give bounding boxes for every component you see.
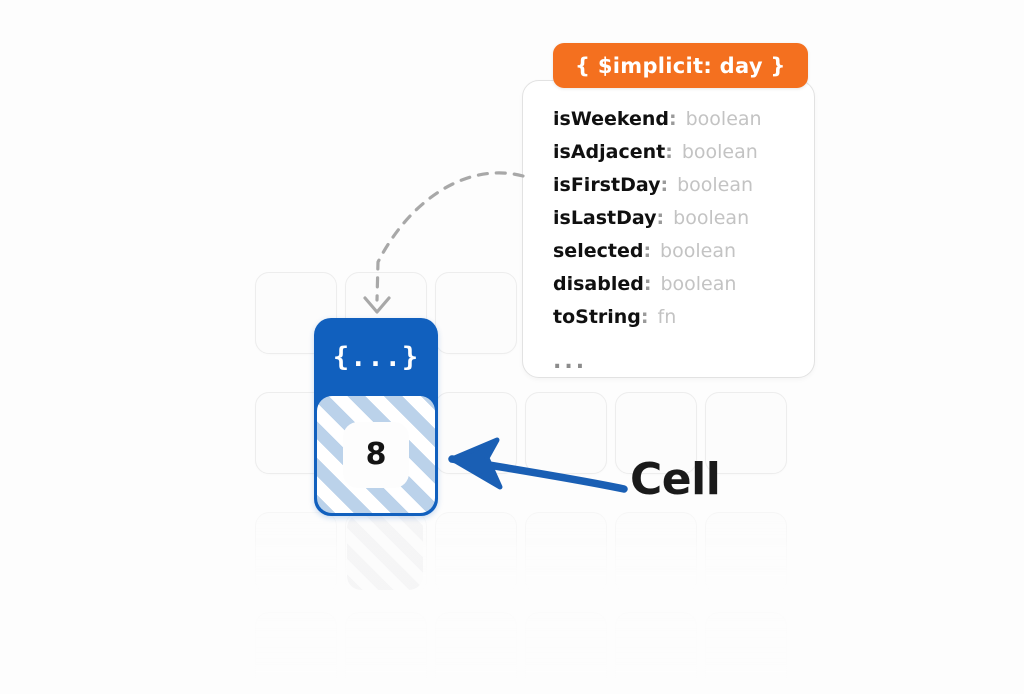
property-separator: : — [641, 306, 649, 328]
implicit-context-badge: { $implicit: day } — [553, 43, 808, 88]
property-list-ellipsis: ... — [553, 349, 814, 374]
grid-cell — [705, 512, 787, 594]
grid-cell — [615, 512, 697, 594]
arrows-layer — [0, 0, 1024, 691]
property-row: isAdjacent:boolean — [553, 141, 814, 174]
grid-cell — [705, 612, 787, 694]
property-row: selected:boolean — [553, 240, 814, 273]
property-key: isFirstDay — [553, 174, 660, 196]
dashed-curved-arrow-icon — [365, 173, 523, 312]
grid-cell — [255, 612, 337, 694]
grid-cell — [525, 392, 607, 474]
property-key: disabled — [553, 273, 644, 295]
grid-cell — [255, 512, 337, 594]
property-type: boolean — [682, 141, 758, 163]
grid-cell — [435, 272, 517, 354]
grid-cell-reflection — [347, 514, 423, 590]
cell-context-section: {...} — [314, 318, 438, 398]
context-properties-panel: isWeekend:boolean isAdjacent:boolean isF… — [522, 80, 815, 378]
property-row: toString:fn — [553, 306, 814, 339]
braces-icon: {...} — [333, 344, 419, 371]
property-key: isAdjacent — [553, 141, 665, 163]
property-separator: : — [643, 240, 651, 262]
property-key: isWeekend — [553, 108, 669, 130]
calendar-cell-widget[interactable]: {...} 8 — [314, 318, 438, 516]
property-type: boolean — [677, 174, 753, 196]
grid-cell — [525, 512, 607, 594]
property-separator: : — [657, 207, 665, 229]
property-separator: : — [644, 273, 652, 295]
calendar-grid-background — [0, 0, 1024, 691]
property-type: boolean — [686, 108, 762, 130]
property-row: isLastDay:boolean — [553, 207, 814, 240]
property-type: fn — [658, 306, 677, 328]
pointer-arrow-icon — [452, 440, 624, 489]
cell-day-number: 8 — [343, 422, 409, 488]
property-row: isWeekend:boolean — [553, 108, 814, 141]
grid-cell — [525, 612, 607, 694]
grid-cell — [345, 612, 427, 694]
property-row: isFirstDay:boolean — [553, 174, 814, 207]
property-key: selected — [553, 240, 643, 262]
cell-day-section: 8 — [317, 396, 435, 513]
property-key: isLastDay — [553, 207, 657, 229]
property-type: boolean — [660, 240, 736, 262]
grid-cell — [345, 512, 427, 594]
property-separator: : — [660, 174, 668, 196]
property-type: boolean — [660, 273, 736, 295]
property-key: toString — [553, 306, 641, 328]
grid-cell — [435, 512, 517, 594]
property-separator: : — [665, 141, 673, 163]
grid-cell — [435, 612, 517, 694]
grid-cell — [435, 392, 517, 474]
property-separator: : — [669, 108, 677, 130]
cell-annotation-label: Cell — [630, 458, 720, 502]
property-row: disabled:boolean — [553, 273, 814, 306]
diagram-canvas: isWeekend:boolean isAdjacent:boolean isF… — [0, 0, 1024, 691]
grid-cell — [615, 612, 697, 694]
property-type: boolean — [673, 207, 749, 229]
